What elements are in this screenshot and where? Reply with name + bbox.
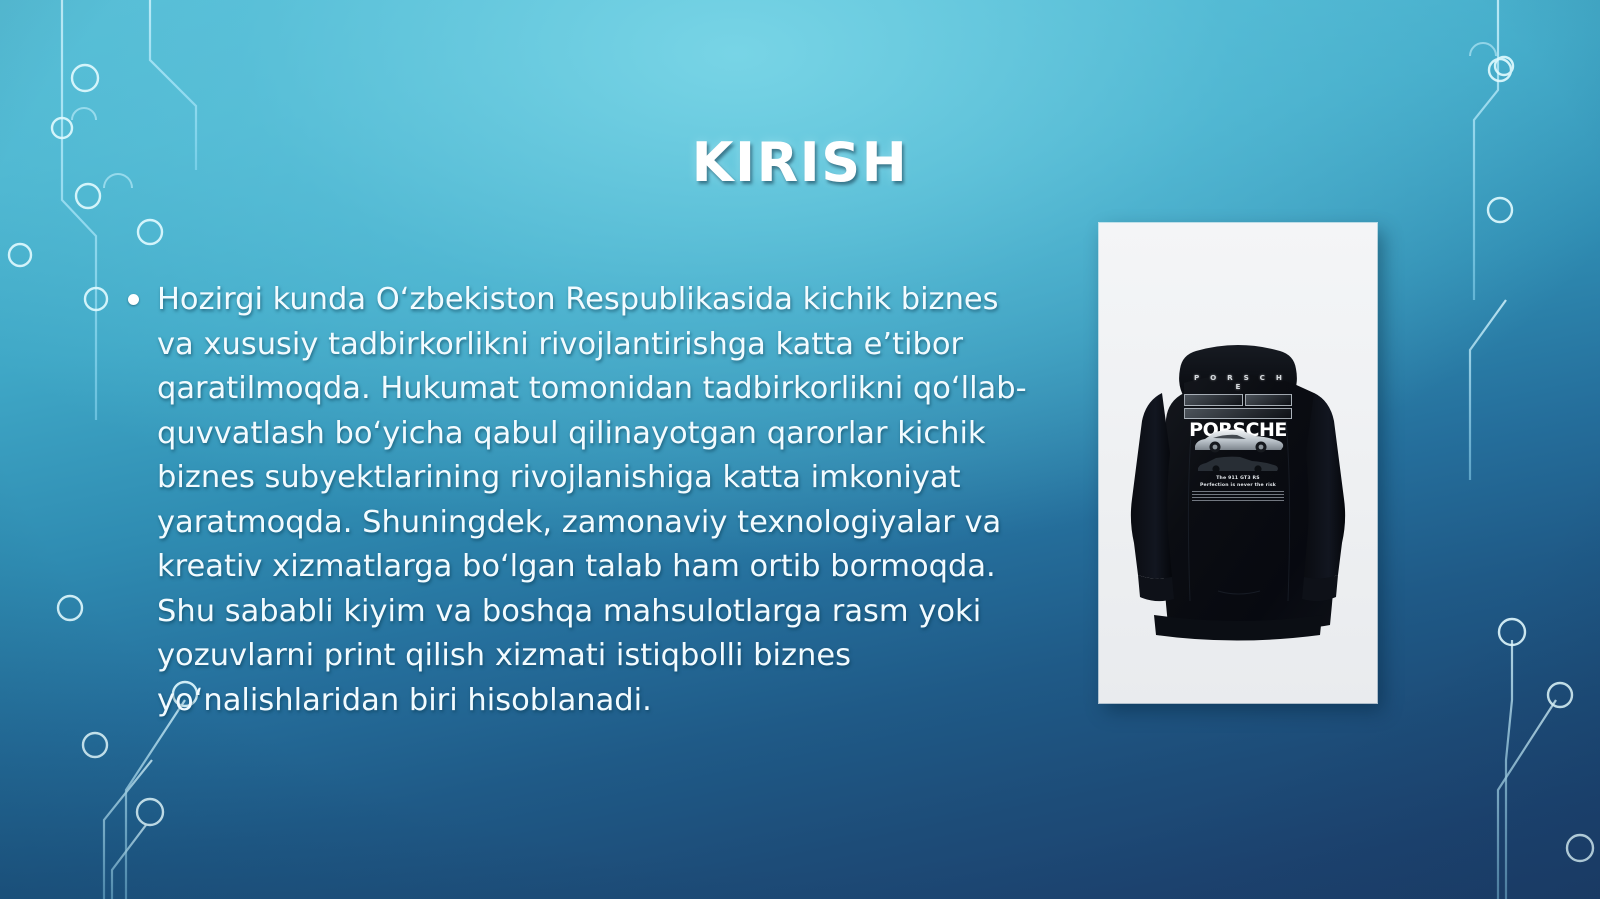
presentation-slide: KIRISH Hozirgi kunda O‘zbekiston Respubl… xyxy=(0,0,1600,899)
print-thumbnail-grid xyxy=(1184,394,1292,419)
sports-car-silhouette-icon xyxy=(1194,455,1282,473)
print-grid-cell xyxy=(1184,394,1243,406)
product-image-frame: P O R S C H E PORSCHE xyxy=(1099,223,1377,703)
print-grid-cell xyxy=(1184,408,1292,419)
hoodie-print-graphic: P O R S C H E PORSCHE xyxy=(1184,373,1292,501)
print-caption-line-2: Perfection is never the risk xyxy=(1184,482,1292,489)
print-brand-text: P O R S C H E xyxy=(1188,373,1292,391)
bullet-list: Hozirgi kunda O‘zbekiston Respublikasida… xyxy=(128,278,1028,723)
print-caption-line-1: The 911 GT3 RS xyxy=(1184,475,1292,482)
bullet-dot-icon xyxy=(128,294,139,305)
product-image-background: P O R S C H E PORSCHE xyxy=(1099,223,1377,703)
print-caption: The 911 GT3 RS Perfection is never the r… xyxy=(1184,475,1292,489)
bullet-item-text: Hozirgi kunda O‘zbekiston Respublikasida… xyxy=(157,278,1028,723)
sports-car-icon xyxy=(1191,427,1285,453)
print-decorative-lines xyxy=(1192,491,1284,503)
page-title: KIRISH xyxy=(0,131,1600,194)
print-grid-cell xyxy=(1245,394,1292,406)
